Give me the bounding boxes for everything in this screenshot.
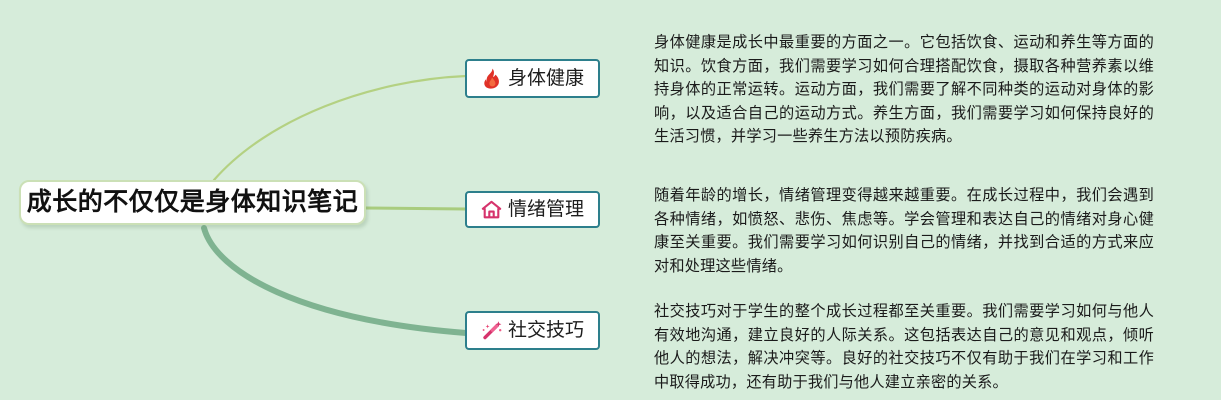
topic-node-social[interactable]: 社交技巧	[465, 311, 600, 350]
branch-to-health	[214, 76, 466, 180]
root-node[interactable]: 成长的不仅仅是身体知识笔记	[19, 180, 366, 225]
topic-node-emotion-label: 情绪管理	[508, 200, 584, 219]
topic-node-health-label: 身体健康	[508, 69, 584, 88]
fire-icon	[481, 68, 503, 90]
detail-text-social: 社交技巧对于学生的整个成长过程都至关重要。我们需要学习如何与他人有效地沟通，建立…	[654, 300, 1154, 394]
topic-node-health[interactable]: 身体健康	[465, 59, 600, 98]
root-node-label: 成长的不仅仅是身体知识笔记	[27, 190, 359, 215]
magic-wand-icon	[481, 320, 503, 342]
detail-text-health: 身体健康是成长中最重要的方面之一。它包括饮食、运动和养生等方面的知识。饮食方面，…	[654, 31, 1154, 149]
mindmap-canvas: 成长的不仅仅是身体知识笔记 身体健康 情绪管理	[0, 0, 1221, 400]
house-icon	[481, 199, 503, 221]
topic-node-emotion[interactable]: 情绪管理	[465, 191, 600, 228]
detail-text-emotion: 随着年龄的增长，情绪管理变得越来越重要。在成长过程中，我们会遇到各种情绪，如愤怒…	[654, 184, 1154, 278]
topic-node-social-label: 社交技巧	[508, 321, 584, 340]
branch-to-emotion	[366, 208, 466, 209]
branch-to-social	[204, 228, 466, 333]
